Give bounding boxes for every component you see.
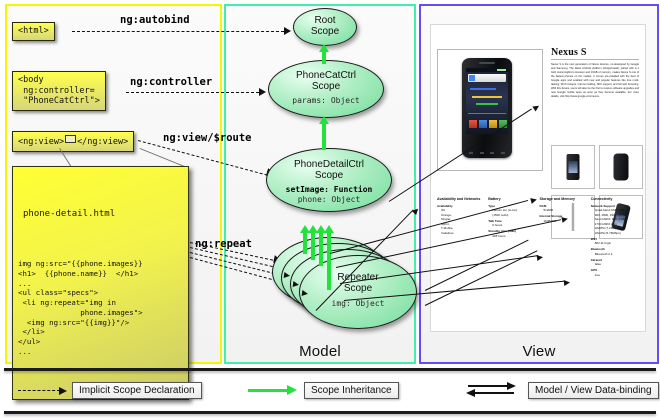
specs-value: HSUPA (5.76Mbps) (591, 231, 639, 236)
inheritance-arrowhead-cat-to-root (319, 44, 329, 52)
thumbnail-2[interactable] (599, 145, 643, 189)
model-column-label: Model (226, 343, 414, 360)
legend-label-databinding: Model / View Data-binding (528, 382, 659, 399)
legend-item-implicit: Implicit Scope Declaration (18, 381, 202, 399)
legend-top-rule (4, 368, 656, 371)
ngview-tag-box: <ng:view></ng:view> (12, 131, 134, 152)
legend-item-inheritance: Scope Inheritance (248, 381, 399, 399)
ngview-placeholder-icon (65, 135, 76, 143)
snippet-title: phone-detail.html (13, 207, 188, 221)
scope-phonedetailctrl-label: PhoneDetailCtrl Scope (267, 149, 391, 181)
legend-dashed-arrow-icon (18, 390, 60, 391)
ngview-close-label: </ng:view> (77, 137, 128, 147)
legend-green-arrow-icon (248, 389, 288, 392)
phone-search-widget (468, 74, 506, 82)
scope-phonedetailctrl-setimage: setImage: Function (267, 181, 391, 195)
ngview-open-label: <ng:view> (18, 137, 64, 147)
autobind-label: ng:autobind (120, 14, 190, 26)
phone-nav-buttons (466, 150, 508, 155)
setimage-prop-text: setImage: Function (286, 185, 373, 194)
repeater-stack-inner-arrow-3 (302, 290, 309, 297)
scope-phonedetailctrl-phone: phone: Object (267, 195, 391, 205)
phone-status-icons (497, 69, 506, 71)
scope-root: Root Scope (293, 8, 357, 46)
phone-speaker (479, 62, 495, 64)
specs-value: Bluetooth 2.1 (591, 252, 639, 257)
specs-value: Vodafone (437, 231, 485, 236)
specs-column-header: Connectivity (591, 197, 639, 202)
snippet-code: img ng:src="{{phone.images}} <h1> {{phon… (13, 259, 188, 359)
inheritance-arrow-detail-to-cat (322, 123, 326, 150)
inheritance-arrowhead-repeater-d (324, 225, 334, 233)
databinding-arrowhead-thumb-2 (561, 216, 568, 223)
autobind-arrowhead (284, 27, 291, 35)
thumb-phone-front-icon (567, 154, 580, 180)
phone-status-bar (466, 68, 508, 72)
title-divider (551, 59, 639, 60)
phone-detail-snippet: phone-detail.html img ng:src="{{phone.im… (12, 166, 189, 400)
inheritance-arrow-cat-to-root (322, 51, 326, 64)
legend-bottom-rule (4, 411, 656, 414)
view-route-label: ng:view/$route (163, 132, 252, 144)
scope-phonecatctrl: PhoneCatCtrl Scope params: Object (268, 60, 384, 118)
legend-label-implicit: Implicit Scope Declaration (72, 382, 202, 399)
specs-value: true (591, 273, 639, 278)
view-title-area: Nexus S Nexus S is the next generation o… (551, 47, 639, 99)
inheritance-arrow-repeater-a (303, 232, 307, 254)
legend-double-arrow-icon (468, 383, 514, 397)
inheritance-arrow-repeater-c (319, 232, 323, 266)
controller-label: ng:controller (130, 76, 212, 88)
diagram-canvas: Template Model View <html> <body ng:cont… (0, 0, 660, 420)
scope-phonecatctrl-props: params: Object (269, 92, 383, 106)
controller-edge (126, 92, 259, 93)
thumbnail-1[interactable] (551, 145, 595, 189)
repeat-label: ng:repeat (195, 238, 252, 250)
specs-value: 428 hours (488, 234, 536, 239)
scope-root-label: Root Scope (294, 9, 356, 37)
specs-value: 802.11 b/g/n (591, 241, 639, 246)
inheritance-arrowhead-detail-to-cat (319, 116, 329, 124)
databinding-arrowhead-thumb-4 (564, 279, 571, 286)
specs-column: Connectivity Network Support Quad-band G… (591, 197, 639, 277)
legend-item-databinding: Model / View Data-binding (468, 381, 659, 399)
databinding-arrowhead-thumb-3 (537, 254, 544, 261)
phone-hero-image (462, 58, 512, 158)
inheritance-arrow-repeater-d (327, 232, 331, 290)
phone-screen (466, 68, 508, 134)
view-column-label: View (421, 343, 657, 360)
body-tag-box: <body ng:controller= "PhoneCatCtrl"> (12, 71, 106, 111)
view-page-description: Nexus S is the next generation of Nexus … (551, 63, 639, 99)
scope-phonecatctrl-label: PhoneCatCtrl Scope (269, 61, 383, 92)
autobind-edge (72, 31, 284, 32)
specs-column-header: Availability and Networks (437, 197, 485, 202)
specs-column: Storage and Memory RAM 512MB Internal St… (540, 197, 588, 277)
scope-phonedetailctrl: PhoneDetailCtrl Scope setImage: Function… (266, 148, 392, 212)
specs-column-header: Storage and Memory (540, 197, 588, 202)
specs-value: false (591, 262, 639, 267)
view-page-title: Nexus S (551, 47, 639, 58)
html-tag-box: <html> (12, 22, 55, 41)
thumb-phone-back-icon (614, 154, 629, 181)
repeater-stack-inner-arrow-1 (284, 272, 291, 279)
specs-value: (1500 mAH) (488, 213, 536, 218)
specs-value: 512MB (540, 208, 588, 213)
legend-label-inheritance: Scope Inheritance (304, 382, 399, 399)
controller-arrowhead (259, 88, 266, 96)
repeater-stack-inner-arrow-2 (293, 281, 300, 288)
inheritance-arrow-repeater-b (311, 232, 315, 260)
